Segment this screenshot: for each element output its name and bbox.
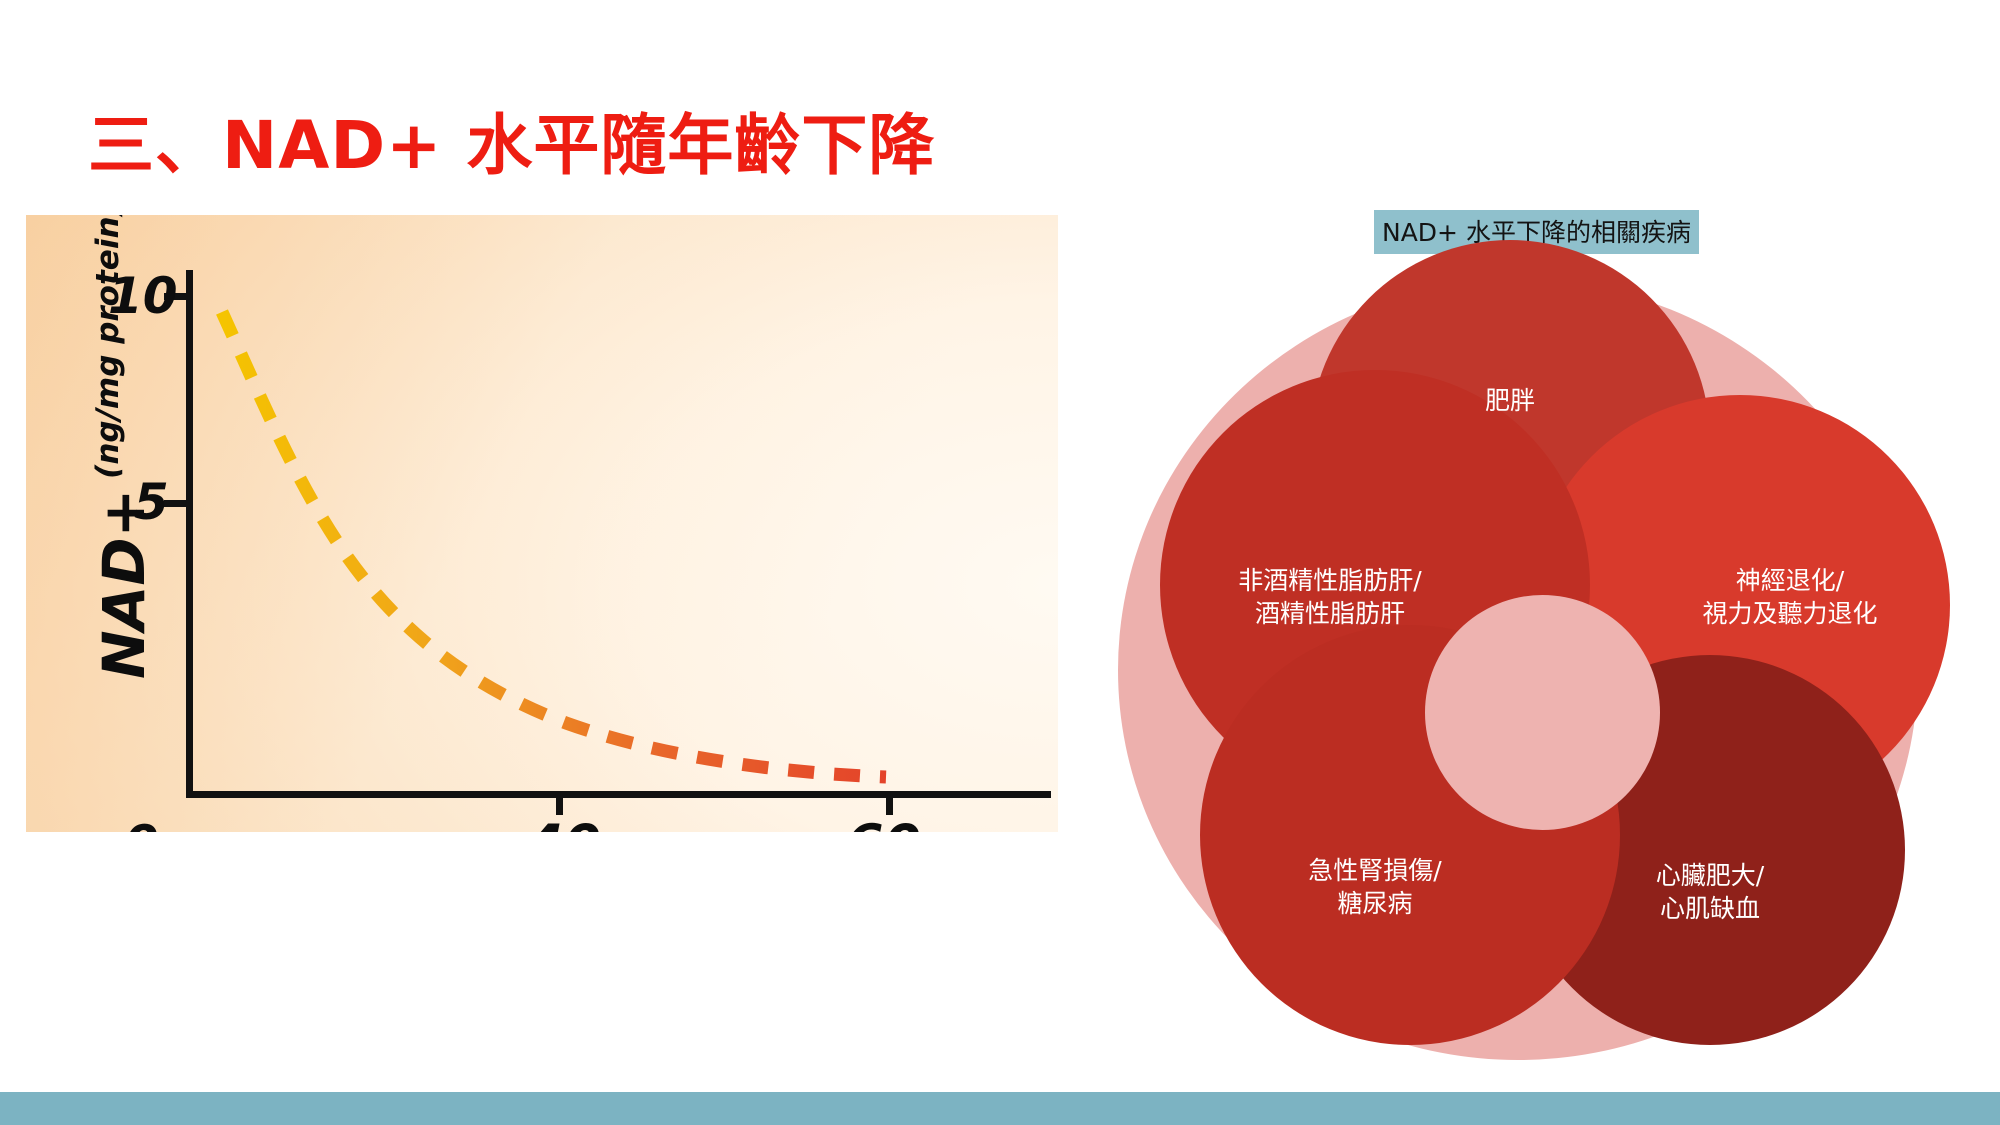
- nad-decline-chart: 10 5 0 40 60 NAD+(ng/mg protein) AGE: [26, 215, 1058, 832]
- venn-label-liver-line1: 非酒精性脂肪肝/: [1165, 565, 1495, 598]
- x-tick-label-0: 0: [124, 815, 159, 832]
- x-tick-40: [556, 791, 563, 815]
- bottom-accent-band: [0, 1092, 2000, 1125]
- nad-decay-curve: [26, 215, 1058, 832]
- venn-label-obesity-line1: 肥胖: [1410, 385, 1610, 418]
- x-tick-60: [886, 791, 893, 815]
- page-title: 三、NAD+ 水平隨年齡下降: [88, 92, 935, 188]
- nad-disease-venn: 肥胖 非酒精性脂肪肝/ 酒精性脂肪肝 神經退化/ 視力及聽力退化 急性腎損傷/ …: [1080, 240, 1970, 1100]
- venn-center-circle: [1425, 595, 1660, 830]
- venn-label-liver-line2: 酒精性脂肪肝: [1165, 598, 1495, 631]
- y-axis-title: NAD+(ng/mg protein): [90, 339, 158, 679]
- x-tick-label-60: 60: [846, 813, 921, 832]
- y-axis-title-main: NAD+: [90, 489, 158, 679]
- venn-label-obesity: 肥胖: [1410, 385, 1610, 418]
- venn-label-kidney-line1: 急性腎損傷/: [1210, 855, 1540, 888]
- y-axis-line: [186, 270, 193, 797]
- venn-label-heart-line1: 心臟肥大/: [1560, 860, 1860, 893]
- venn-label-heart: 心臟肥大/ 心肌缺血: [1560, 860, 1860, 925]
- venn-label-heart-line2: 心肌缺血: [1560, 893, 1860, 926]
- venn-label-kidney-line2: 糖尿病: [1210, 888, 1540, 921]
- venn-label-kidney: 急性腎損傷/ 糖尿病: [1210, 855, 1540, 920]
- venn-label-neuro-line2: 視力及聽力退化: [1625, 598, 1955, 631]
- venn-label-neuro-line1: 神經退化/: [1625, 565, 1955, 598]
- x-axis-line: [186, 791, 1051, 798]
- x-tick-label-40: 40: [526, 813, 601, 832]
- y-axis-title-unit: (ng/mg protein): [90, 215, 126, 479]
- venn-label-neuro: 神經退化/ 視力及聽力退化: [1625, 565, 1955, 630]
- venn-label-liver: 非酒精性脂肪肝/ 酒精性脂肪肝: [1165, 565, 1495, 630]
